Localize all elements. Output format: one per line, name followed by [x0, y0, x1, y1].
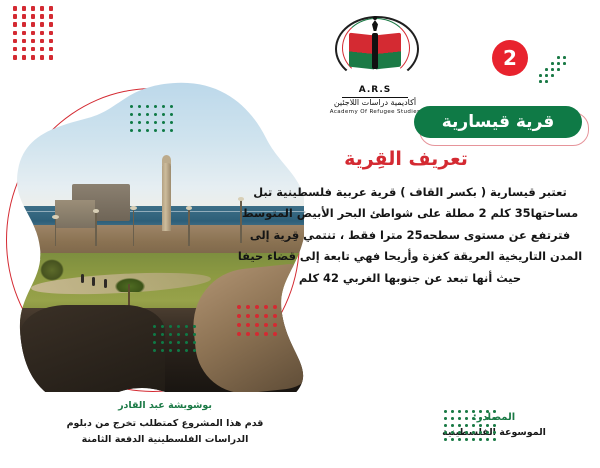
photo-person — [104, 279, 107, 288]
photo-minaret — [162, 163, 171, 231]
logo-acronym: A.R.S — [322, 85, 428, 95]
logo-book-icon — [349, 34, 401, 68]
logo-english-name: Academy Of Refugee Studies — [322, 109, 428, 115]
logo-arabic-name: أكاديمية دراسات اللاجئين — [322, 99, 428, 107]
section-body-text: تعتبر قيسارية ( بكسر القاف ) قرية عربية … — [232, 182, 588, 289]
academy-logo: A.R.S أكاديمية دراسات اللاجئين Academy O… — [322, 12, 428, 116]
logo-emblem-icon — [333, 12, 417, 86]
photo-lamppost — [55, 218, 57, 246]
slide-number-badge: 2 — [492, 40, 528, 76]
photo-person — [92, 277, 95, 286]
decorative-dot-grid-photo-red — [232, 305, 277, 341]
photo-palm-tree — [113, 274, 147, 308]
decorative-dot-grid-sources — [440, 410, 496, 445]
photo-rock-outcrop-left — [20, 305, 165, 392]
decorative-dot-grid-top-left — [8, 6, 53, 63]
credits-block: بوشويشة عبد القادر قدم هذا المشروع كمتطل… — [40, 400, 290, 448]
slide-canvas: A.R.S أكاديمية دراسات اللاجئين Academy O… — [0, 0, 600, 468]
photo-lamppost — [188, 209, 190, 246]
credit-author-name: بوشويشة عبد القادر — [40, 400, 290, 411]
photo-tree — [40, 259, 64, 281]
photo-lamppost — [133, 209, 135, 246]
photo-lamppost — [95, 212, 97, 246]
credit-line-2: الدراسات الفلسطينية الدفعة الثامنة — [40, 432, 290, 448]
section-title: تعريف القِرية — [226, 148, 586, 170]
photo-building-secondary — [55, 200, 96, 228]
logo-person-icon — [371, 16, 379, 32]
photo-person — [81, 274, 84, 283]
village-name-pill: قرية قيسارية — [414, 106, 582, 138]
decorative-dot-grid-badge — [536, 56, 566, 86]
decorative-dot-grid-photo-bottom — [148, 325, 196, 357]
decorative-dot-grid-photo-top — [125, 105, 173, 137]
credit-line-1: قدم هذا المشروع كمتطلب تخرج من دبلوم — [40, 416, 290, 432]
